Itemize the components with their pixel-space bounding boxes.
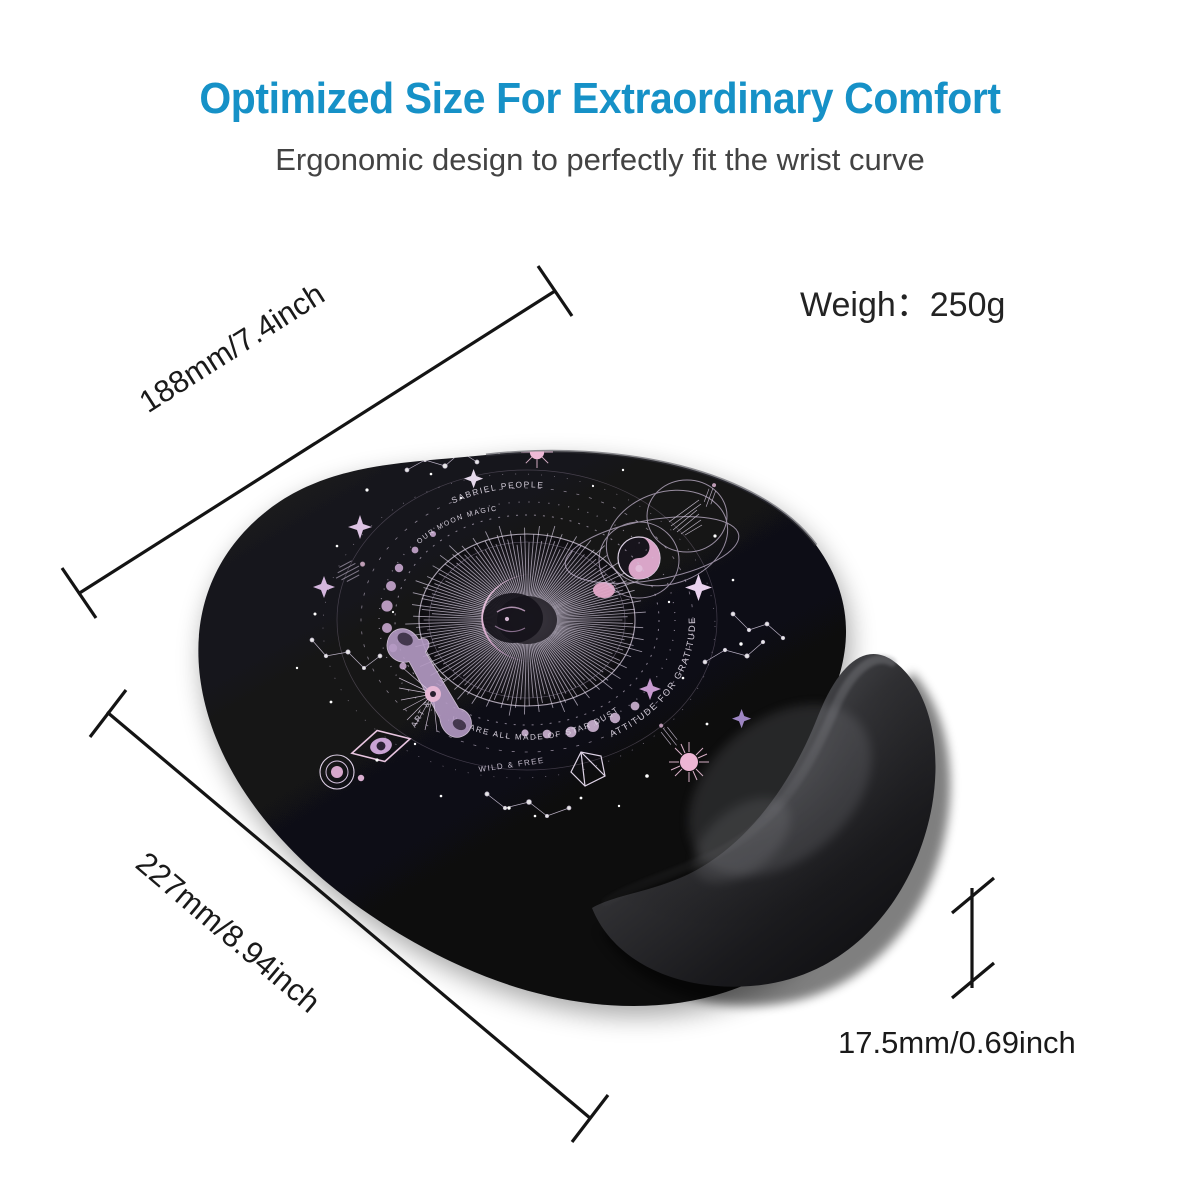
thickness-dimension-line (952, 878, 994, 998)
infographic-canvas: Optimized Size For Extraordinary Comfort… (0, 0, 1200, 1200)
planet-dot (593, 582, 615, 598)
product-illustration: SABRIEL PEOPLE OUR MOON MAGIC WE ARE ALL… (0, 0, 1200, 1200)
